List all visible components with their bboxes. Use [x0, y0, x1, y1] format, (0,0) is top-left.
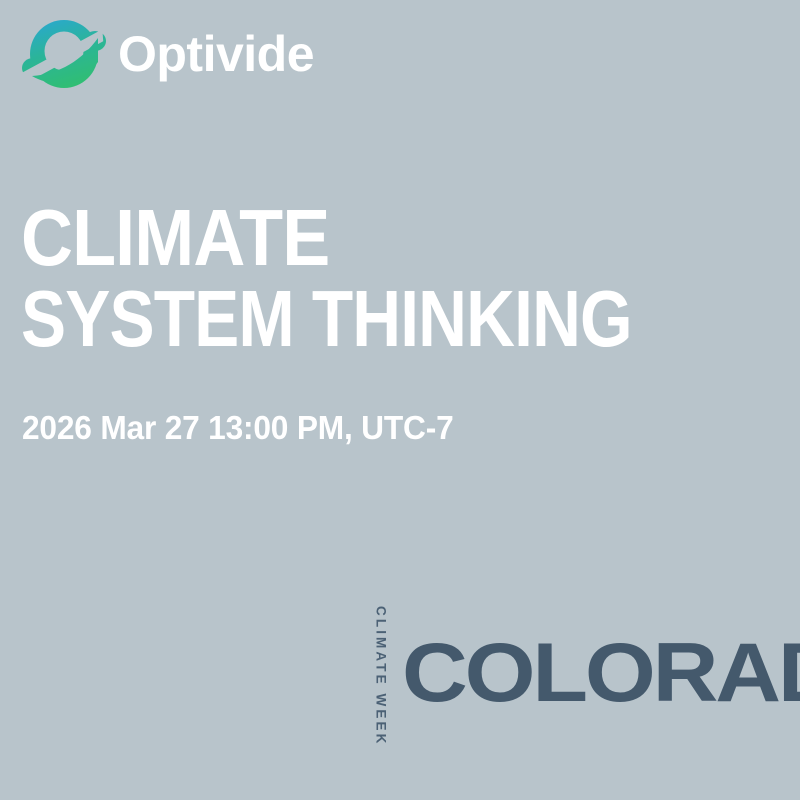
- optivide-orbit-swoosh-icon: [22, 14, 106, 94]
- event-promo-poster: Optivide CLIMATE SYSTEM THINKING 2026 Ma…: [0, 0, 800, 800]
- climate-week-colorado-lockup[interactable]: CLIMATE WEEK COLORADO: [374, 600, 800, 740]
- headline-line-2: SYSTEM THINKING: [21, 279, 672, 358]
- headline-block: CLIMATE SYSTEM THINKING: [21, 198, 791, 358]
- climate-week-vertical-label: CLIMATE WEEK: [374, 606, 388, 746]
- headline-line-1: CLIMATE: [21, 198, 714, 277]
- event-datetime: 2026 Mar 27 13:00 PM, UTC-7: [22, 408, 454, 448]
- brand-lockup[interactable]: Optivide: [22, 14, 314, 94]
- brand-name: Optivide: [118, 29, 314, 79]
- colorado-wordmark: COLORADO: [402, 631, 800, 714]
